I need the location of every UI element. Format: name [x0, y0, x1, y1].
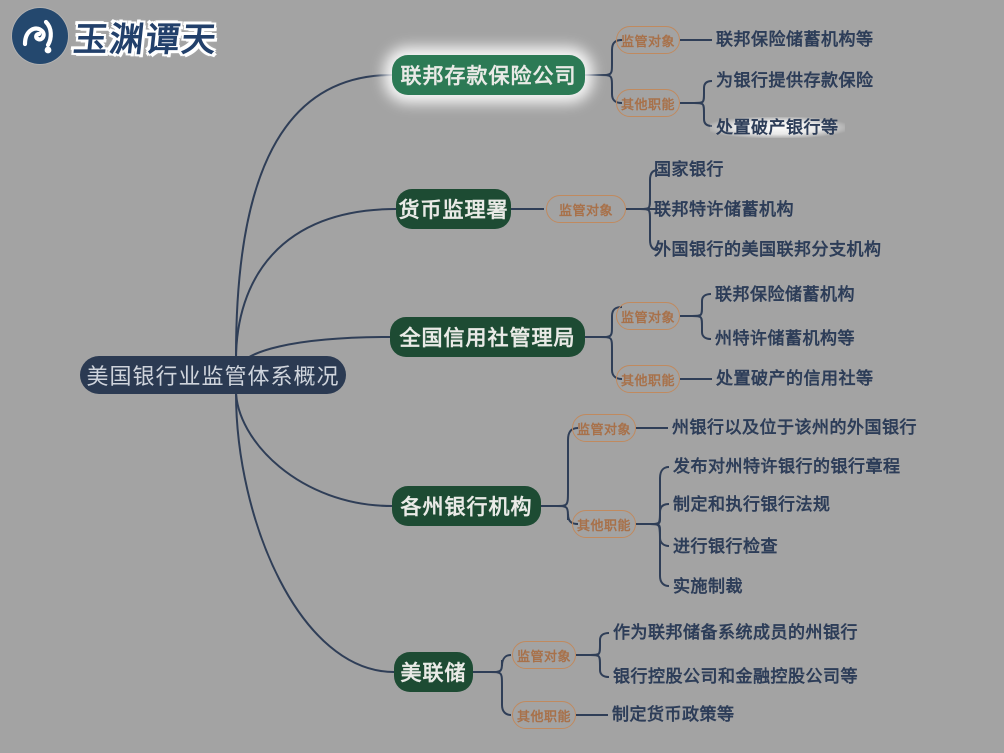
leaf-item[interactable]: 发布对州特许银行的银行章程 [673, 458, 901, 475]
brand-logo: 玉渊谭天 [12, 8, 218, 64]
leaf-item[interactable]: 国家银行 [654, 161, 724, 178]
branch-node-state[interactable]: 各州银行机构 [392, 486, 541, 526]
leaf-item[interactable]: 州银行以及位于该州的外国银行 [672, 419, 917, 436]
branch-node-fdic[interactable]: 联邦存款保险公司 [392, 55, 585, 95]
group-pill-ncua-supervised[interactable]: 监管对象 [616, 302, 680, 330]
leaf-item[interactable]: 制定货币政策等 [612, 706, 735, 723]
leaf-item[interactable]: 银行控股公司和金融控股公司等 [613, 668, 858, 685]
leaf-item[interactable]: 作为联邦储备系统成员的州银行 [613, 624, 858, 641]
leaf-item[interactable]: 联邦特许储蓄机构 [654, 201, 794, 218]
leaf-item[interactable]: 进行银行检查 [673, 538, 778, 555]
branch-node-fed[interactable]: 美联储 [394, 652, 473, 692]
leaf-item[interactable]: 制定和执行银行法规 [673, 496, 831, 513]
group-pill-occ-supervised[interactable]: 监管对象 [546, 195, 626, 223]
branch-node-ncua[interactable]: 全国信用社管理局 [390, 317, 585, 357]
leaf-item[interactable]: 实施制裁 [673, 578, 743, 595]
leaf-item[interactable]: 外国银行的美国联邦分支机构 [654, 241, 882, 258]
leaf-item[interactable]: 为银行提供存款保险 [716, 72, 874, 89]
leaf-item[interactable]: 联邦保险储蓄机构 [715, 286, 855, 303]
wave-exclamation-logo-icon [12, 8, 68, 64]
leaf-item[interactable]: 处置破产的信用社等 [716, 370, 874, 387]
group-pill-state-other[interactable]: 其他职能 [572, 510, 636, 538]
branch-node-occ[interactable]: 货币监理署 [396, 189, 511, 229]
group-pill-fdic-other[interactable]: 其他职能 [616, 89, 680, 117]
root-node[interactable]: 美国银行业监管体系概况 [80, 356, 346, 394]
brand-name: 玉渊谭天 [71, 12, 220, 61]
leaf-item[interactable]: 联邦保险储蓄机构等 [716, 31, 874, 48]
group-pill-ncua-other[interactable]: 其他职能 [616, 365, 680, 393]
group-pill-fed-supervised[interactable]: 监管对象 [512, 641, 576, 669]
group-pill-fdic-supervised[interactable]: 监管对象 [616, 26, 680, 54]
leaf-item[interactable]: 州特许储蓄机构等 [715, 330, 855, 347]
leaf-item-highlighted[interactable]: 处置破产银行等 [710, 117, 845, 138]
group-pill-state-supervised[interactable]: 监管对象 [572, 414, 636, 442]
mindmap-canvas: 玉渊谭天 美国银行业监管体系概况 联邦存款保险公司 监管对象 联邦保险储蓄机构等… [0, 0, 1004, 753]
group-pill-fed-other[interactable]: 其他职能 [512, 701, 576, 729]
